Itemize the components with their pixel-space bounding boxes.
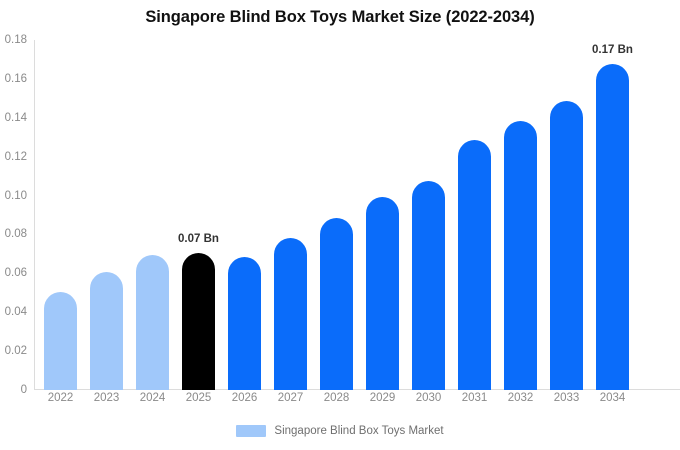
chart-container: Singapore Blind Box Toys Market Size (20… [0,0,680,450]
x-axis-tick-label-2031: 2031 [458,392,491,404]
x-axis-tick-label-2025: 2025 [182,392,215,404]
bar-2022[interactable] [44,292,77,390]
y-axis-tick-label: 0.08 [5,228,27,240]
x-axis-tick-label-2028: 2028 [320,392,353,404]
y-axis-tick-label: 0.10 [5,190,27,202]
x-axis-tick-label-2032: 2032 [504,392,537,404]
x-axis-tick-label-2027: 2027 [274,392,307,404]
bar-2028[interactable] [320,218,353,390]
bar-2025[interactable] [182,253,215,390]
bar-2023[interactable] [90,272,123,390]
y-axis-tick-label: 0.06 [5,267,27,279]
x-axis-tick-label-2023: 2023 [90,392,123,404]
bar-2032[interactable] [504,121,537,390]
bar-slot: 0.07 Bn [182,40,215,390]
bar-slot [136,40,169,390]
chart-legend: Singapore Blind Box Toys Market [0,425,680,437]
bar-2026[interactable] [228,257,261,390]
y-axis-tick-label: 0.04 [5,306,27,318]
x-axis-tick-label-2024: 2024 [136,392,169,404]
bar-slot [90,40,123,390]
x-axis-tick-label-2026: 2026 [228,392,261,404]
bar-value-label: 0.17 Bn [592,44,633,56]
bar-2031[interactable] [458,140,491,390]
bars-layer: 0.07 Bn0.17 Bn [34,40,680,390]
legend-item-label[interactable]: Singapore Blind Box Toys Market [274,425,443,437]
bar-2030[interactable] [412,181,445,390]
bar-slot [504,40,537,390]
y-axis-tick-label: 0.12 [5,151,27,163]
y-axis-tick-label: 0.18 [5,34,27,46]
x-axis-tick-label-2029: 2029 [366,392,399,404]
bar-slot [458,40,491,390]
bar-2029[interactable] [366,197,399,390]
bar-value-label: 0.07 Bn [178,233,219,245]
plot-area: 0.180.160.140.120.100.080.060.040.020 0.… [34,40,680,390]
bar-2027[interactable] [274,238,307,390]
y-axis-tick-label: 0.02 [5,345,27,357]
bar-2034[interactable] [596,64,629,390]
bar-slot [320,40,353,390]
legend-swatch-icon [236,425,266,437]
bar-2033[interactable] [550,101,583,390]
x-axis-tick-label-2030: 2030 [412,392,445,404]
bar-slot: 0.17 Bn [596,40,629,390]
bar-slot [550,40,583,390]
bar-slot [274,40,307,390]
y-axis-tick-label: 0.14 [5,112,27,124]
bar-2024[interactable] [136,255,169,390]
bar-slot [228,40,261,390]
bar-slot [366,40,399,390]
bar-slot [44,40,77,390]
chart-title: Singapore Blind Box Toys Market Size (20… [0,8,680,27]
y-axis-tick-label: 0.16 [5,73,27,85]
x-axis-tick-label-2034: 2034 [596,392,629,404]
x-axis-tick-label-2033: 2033 [550,392,583,404]
x-axis-tick-label-2022: 2022 [44,392,77,404]
bar-slot [412,40,445,390]
y-axis-tick-label: 0 [21,384,27,396]
